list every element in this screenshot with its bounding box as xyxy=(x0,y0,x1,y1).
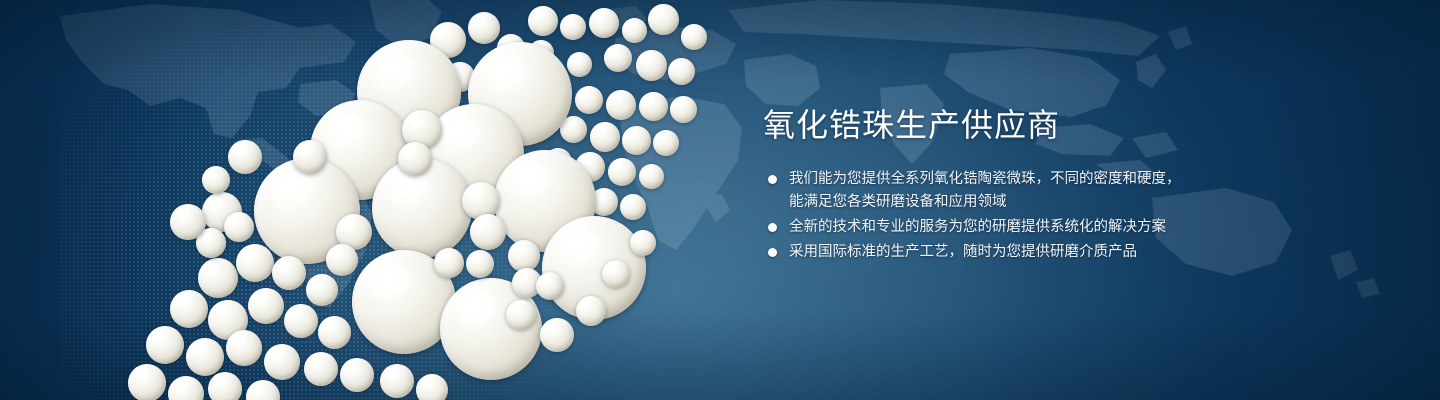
list-item: 采用国际标准的生产工艺，随时为您提供研磨介质产品 xyxy=(763,241,1383,264)
bullet-dot-icon xyxy=(768,223,777,232)
bullet-dot-icon xyxy=(768,248,777,257)
banner-content: 氧化锆珠生产供应商 我们能为您提供全系列氧化锆陶瓷微珠，不同的密度和硬度， 能满… xyxy=(763,104,1383,266)
list-item: 我们能为您提供全系列氧化锆陶瓷微珠，不同的密度和硬度， 能满足您各类研磨设备和应… xyxy=(763,168,1383,214)
list-item-line1: 全新的技术和专业的服务为您的研磨提供系统化的解决方案 xyxy=(789,216,1383,239)
feature-list: 我们能为您提供全系列氧化锆陶瓷微珠，不同的密度和硬度， 能满足您各类研磨设备和应… xyxy=(763,168,1383,264)
list-item-line1: 采用国际标准的生产工艺，随时为您提供研磨介质产品 xyxy=(789,241,1383,264)
hero-banner: 氧化锆珠生产供应商 我们能为您提供全系列氧化锆陶瓷微珠，不同的密度和硬度， 能满… xyxy=(0,0,1440,400)
bullet-dot-icon xyxy=(768,175,777,184)
list-item-line1: 我们能为您提供全系列氧化锆陶瓷微珠，不同的密度和硬度， xyxy=(789,168,1383,191)
list-item-line2: 能满足您各类研磨设备和应用领域 xyxy=(789,191,1383,214)
page-title: 氧化锆珠生产供应商 xyxy=(763,104,1383,146)
list-item: 全新的技术和专业的服务为您的研磨提供系统化的解决方案 xyxy=(763,216,1383,239)
